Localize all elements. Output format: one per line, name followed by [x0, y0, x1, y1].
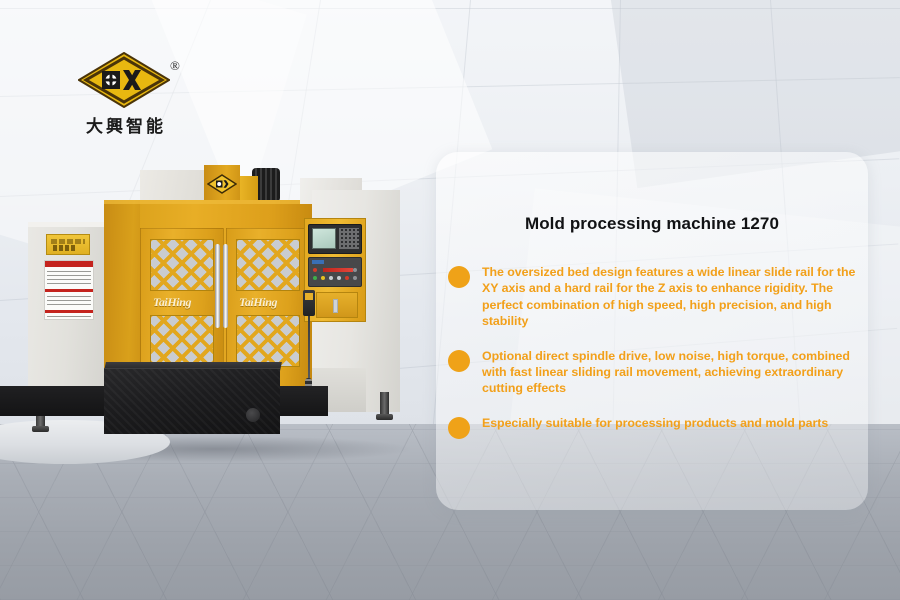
indicator-lamp-green [313, 276, 317, 280]
leveling-foot-pad [32, 426, 49, 432]
conveyor-port-icon [246, 408, 260, 422]
rotary-knob [353, 276, 357, 280]
bullet-dot-icon [448, 266, 470, 288]
product-banner: ® 大興智能 [0, 0, 900, 600]
bullet-dot-icon [448, 417, 470, 439]
rotary-knob [353, 268, 357, 272]
machine-base-rail-right [278, 386, 328, 416]
keypad-icon [339, 228, 359, 249]
indicator-lamp-white [337, 276, 341, 280]
door-handle-left [215, 244, 220, 328]
feature-text: Optional direct spindle drive, low noise… [482, 348, 860, 397]
logo-chinese-name: 大興智能 [74, 112, 178, 137]
cnc-lower-door [316, 292, 358, 318]
door-brand-text: TaiHing [239, 295, 299, 309]
indicator-lamp-red [313, 268, 317, 272]
list-item: Optional direct spindle drive, low noise… [438, 348, 860, 397]
dx-diamond-logo-icon [78, 52, 170, 108]
cnc-button-deck [308, 257, 362, 287]
info-panel: Mold processing machine 1270 The oversiz… [436, 152, 868, 510]
door-brand-text: TaiHing [153, 295, 213, 309]
cnc-screen-icon [312, 228, 336, 249]
registered-trademark-icon: ® [170, 58, 180, 74]
chip-conveyor [104, 368, 280, 434]
nameplate-icon [46, 234, 90, 255]
dx-diamond-badge-icon [207, 174, 237, 194]
feature-list: The oversized bed design features a wide… [438, 264, 860, 457]
indicator-lamp-yellow [321, 276, 325, 280]
company-logo: ® 大興智能 [66, 52, 186, 142]
page-title: Mold processing machine 1270 [436, 214, 868, 234]
feature-text: Especially suitable for processing produ… [482, 415, 860, 439]
emergency-stop-icon [323, 268, 353, 272]
door-handle-right [223, 244, 228, 328]
machine-enclosure-top-edge [104, 200, 312, 204]
list-item: Especially suitable for processing produ… [438, 415, 860, 439]
cnc-machine-photo: TaiHing TaiHing [0, 140, 430, 470]
feature-text: The oversized bed design features a wide… [482, 264, 860, 330]
door-grille-upper [150, 239, 214, 291]
indicator-lamp-white [329, 276, 333, 280]
warning-label-icon [44, 260, 94, 320]
door-grille-upper [236, 239, 300, 291]
status-strip [312, 260, 324, 264]
handheld-pendant-icon [303, 290, 315, 316]
indicator-lamp-red [345, 276, 349, 280]
list-item: The oversized bed design features a wide… [438, 264, 860, 330]
door-grille-lower [236, 315, 300, 367]
bullet-dot-icon [448, 350, 470, 372]
leveling-foot-pad [376, 414, 393, 420]
leveling-foot [380, 392, 389, 416]
electrical-cabinet-top [28, 222, 106, 227]
door-grille-lower [150, 315, 214, 367]
